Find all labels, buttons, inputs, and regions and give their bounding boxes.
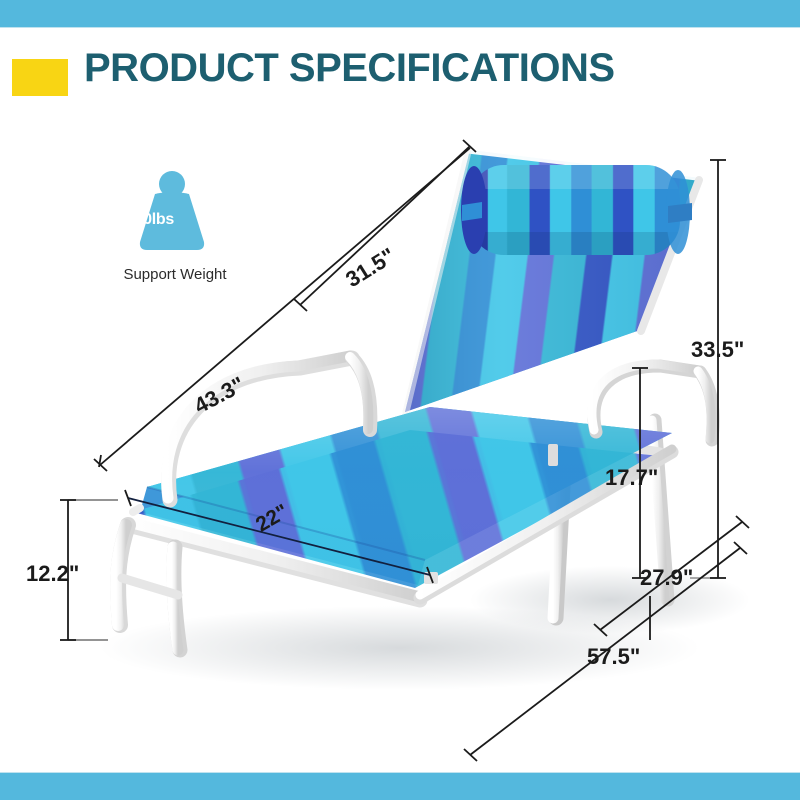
dimension-label-front-height: 12.2" (26, 561, 79, 587)
dimline-overall-height (710, 160, 726, 578)
dimension-label-overall-height: 33.5" (691, 337, 744, 363)
dimension-label-seat-height: 17.7" (605, 465, 658, 491)
head-pillow (461, 163, 692, 258)
product-specifications-page: PRODUCT SPECIFICATIONS 330lbs Support We… (0, 0, 800, 800)
dimension-label-rear-depth: 27.9" (640, 565, 693, 591)
dimension-label-overall-length: 57.5" (587, 644, 640, 670)
product-illustration (0, 0, 800, 800)
